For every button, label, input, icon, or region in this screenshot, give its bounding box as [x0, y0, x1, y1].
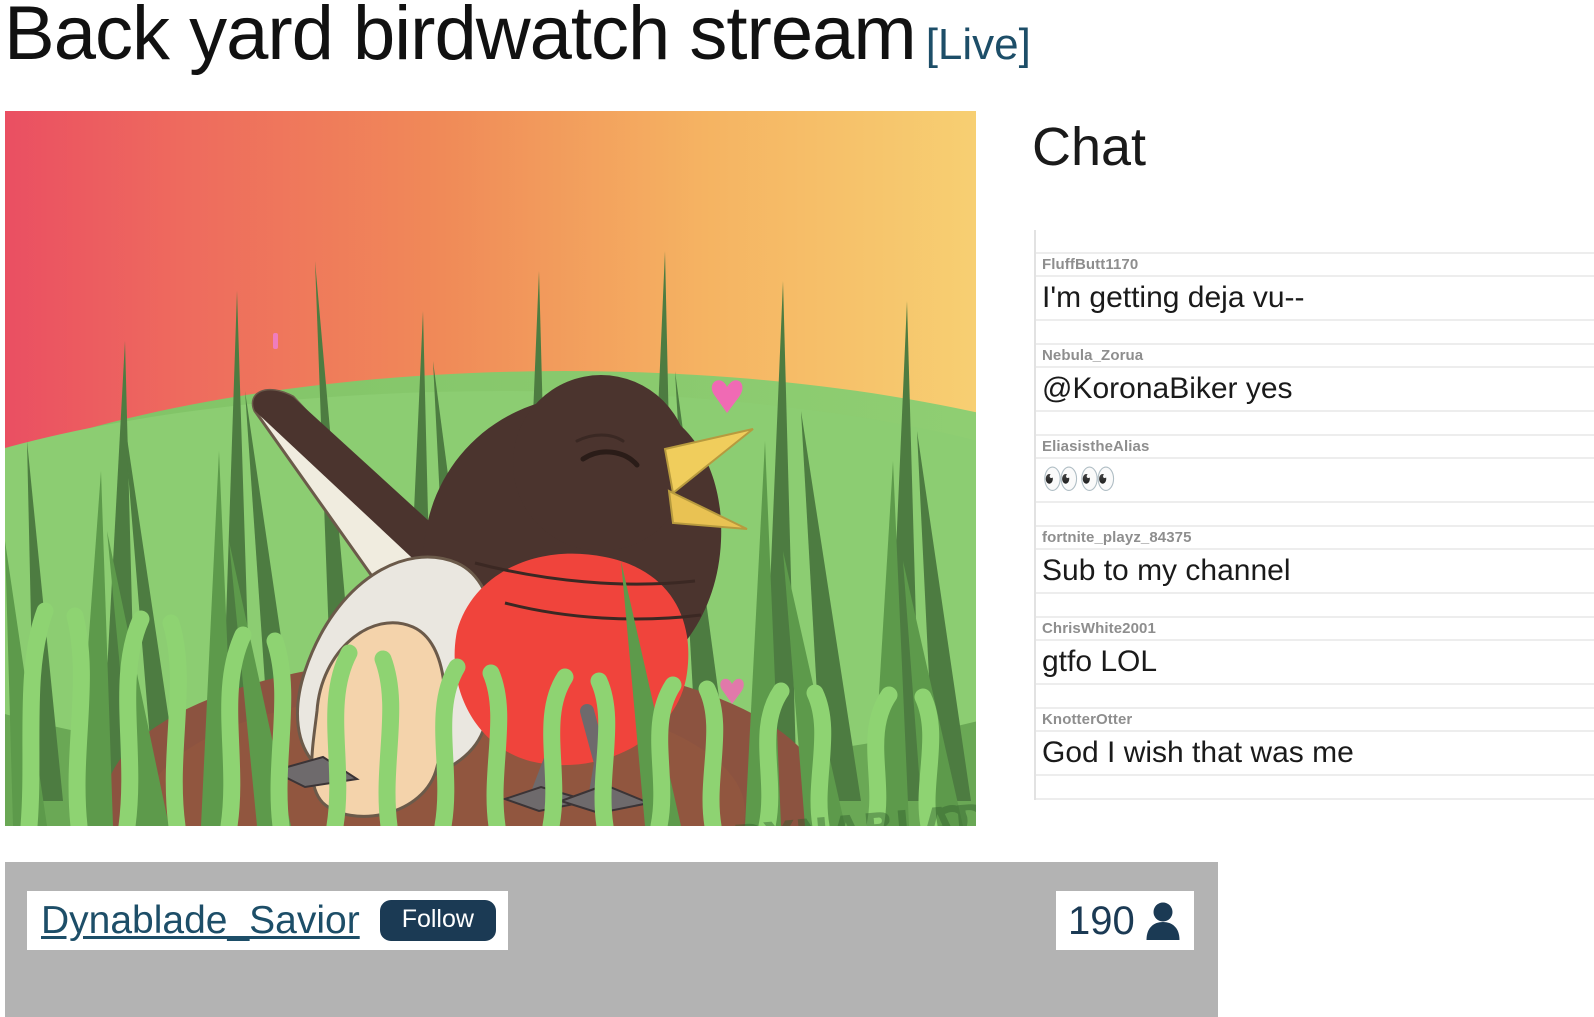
chat-username-row: fortnite_playz_84375: [1036, 527, 1594, 550]
chat-row-spacer: [1036, 685, 1594, 709]
chat-username-row: KnotterOtter: [1036, 709, 1594, 732]
stream-illustration: DYNABLADE SAVIOR: [5, 111, 976, 826]
chat-panel: Chat FluffButt1170 I'm getting deja vu--…: [1020, 112, 1594, 812]
chat-username-row: FluffButt1170: [1036, 254, 1594, 277]
chat-message-text: Sub to my channel: [1042, 556, 1290, 586]
chat-username-row: Nebula_Zorua: [1036, 345, 1594, 368]
chat-message-row: 👀👀: [1036, 459, 1594, 503]
follow-button[interactable]: Follow: [380, 900, 496, 941]
chat-username: FluffButt1170: [1042, 256, 1138, 273]
chat-message-text: I'm getting deja vu--: [1042, 283, 1305, 313]
chat-message-row: God I wish that was me: [1036, 732, 1594, 776]
chat-message-text: @KoronaBiker yes: [1042, 374, 1293, 404]
chat-row-spacer: [1036, 503, 1594, 527]
stream-video-player[interactable]: DYNABLADE SAVIOR: [5, 111, 976, 826]
chat-message-text: God I wish that was me: [1042, 738, 1354, 768]
chat-username-row: EliasistheAlias: [1036, 436, 1594, 459]
chat-username: KnotterOtter: [1042, 711, 1132, 728]
chat-message-list[interactable]: FluffButt1170 I'm getting deja vu-- Nebu…: [1034, 230, 1594, 800]
chat-message-row: @KoronaBiker yes: [1036, 368, 1594, 412]
live-status-badge: [Live]: [926, 23, 1031, 67]
viewer-count-chip: 190: [1056, 891, 1194, 950]
person-icon: [1144, 901, 1182, 941]
page-header: Back yard birdwatch stream [Live]: [4, 0, 1594, 96]
chat-username: ChrisWhite2001: [1042, 620, 1156, 637]
chat-username-row: ChrisWhite2001: [1036, 618, 1594, 641]
chat-message-text: 👀👀: [1042, 465, 1117, 495]
chat-username: EliasistheAlias: [1042, 438, 1149, 455]
chat-message-row: I'm getting deja vu--: [1036, 277, 1594, 321]
chat-heading: Chat: [1032, 120, 1146, 174]
chat-list-top-pad: [1036, 230, 1594, 254]
page-title: Back yard birdwatch stream: [4, 0, 916, 72]
chat-row-spacer: [1036, 412, 1594, 436]
chat-list-bottom-pad: [1036, 776, 1594, 800]
chat-row-spacer: [1036, 594, 1594, 618]
channel-chip: Dynablade_Savior Follow: [27, 891, 508, 950]
chat-message-row: Sub to my channel: [1036, 550, 1594, 594]
chat-message-row: gtfo LOL: [1036, 641, 1594, 685]
viewer-count-value: 190: [1068, 901, 1135, 941]
channel-name-link[interactable]: Dynablade_Savior: [41, 901, 360, 940]
stream-info-bar: Dynablade_Savior Follow 190: [5, 862, 1218, 1017]
chat-row-spacer: [1036, 321, 1594, 345]
chat-username: Nebula_Zorua: [1042, 347, 1143, 364]
chat-username: fortnite_playz_84375: [1042, 529, 1192, 546]
chat-message-text: gtfo LOL: [1042, 647, 1157, 677]
